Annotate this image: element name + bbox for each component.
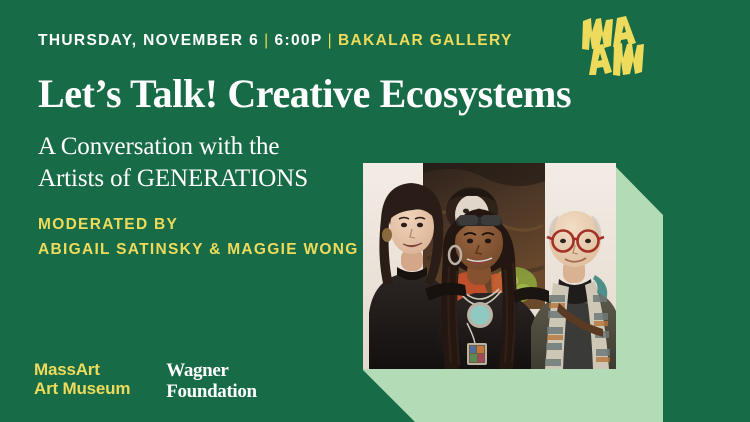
event-promo-poster: THURSDAY, NOVEMBER 6|6:00P|BAKALAR GALLE…: [0, 0, 750, 422]
event-details-line: THURSDAY, NOVEMBER 6|6:00P|BAKALAR GALLE…: [38, 33, 513, 49]
event-photo: [363, 163, 616, 369]
moderator-names: ABIGAIL SATINSKY & MAGGIE WONG: [38, 237, 359, 262]
event-photo-illustration: [363, 163, 616, 369]
event-date: THURSDAY, NOVEMBER 6: [38, 32, 259, 49]
wagner-foundation-logo: Wagner Foundation: [166, 360, 256, 403]
massart-art-museum-logo: MassArt Art Museum: [34, 360, 130, 398]
massart-logo-line-1: MassArt: [34, 360, 130, 379]
event-venue: BAKALAR GALLERY: [338, 32, 513, 49]
event-subtitle: A Conversation with the Artists of GENER…: [38, 131, 308, 195]
detail-separator-2: |: [323, 32, 338, 49]
footer-logo-row: MassArt Art Museum Wagner Foundation: [34, 360, 257, 403]
subtitle-line-2: Artists of GENERATIONS: [38, 163, 308, 195]
event-time: 6:00P: [274, 32, 322, 49]
moderators-block: MODERATED BY ABIGAIL SATINSKY & MAGGIE W…: [38, 212, 359, 262]
maam-monogram-logo: [581, 16, 649, 78]
detail-separator-1: |: [259, 32, 274, 49]
wagner-logo-line-2: Foundation: [166, 381, 256, 402]
subtitle-line-1: A Conversation with the: [38, 131, 308, 163]
moderated-by-label: MODERATED BY: [38, 212, 359, 237]
wagner-logo-line-1: Wagner: [166, 360, 256, 381]
maam-logo-icon: [581, 16, 649, 78]
massart-logo-line-2: Art Museum: [34, 379, 130, 398]
page-title: Let’s Talk! Creative Ecosystems: [38, 73, 571, 115]
